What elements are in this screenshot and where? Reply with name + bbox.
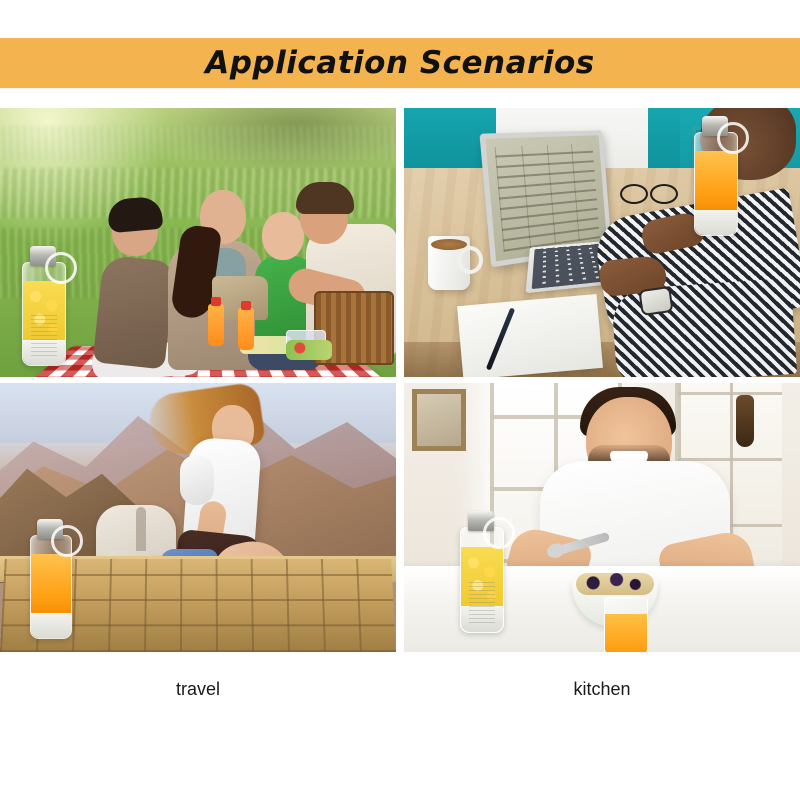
product-blender-bottle [694,116,736,234]
page-banner: Application Scenarios [0,38,800,88]
eyeglasses [620,184,678,202]
woman-sleeve [180,455,214,505]
scenario-card-kitchen[interactable]: kitchen [404,383,800,653]
scenario-photo-picnic [0,108,396,377]
blender-contents-orange-juice [695,151,737,212]
product-blender-bottle [30,519,70,637]
wall-picture-frame [412,389,466,451]
cereal-with-berries [576,573,654,595]
grass-texture [0,126,396,160]
scenario-card-travel[interactable]: travel [0,383,396,653]
blender-contents-orange-juice [31,554,71,615]
caption-kitchen: kitchen [404,652,800,727]
blender-handle-ring [51,525,83,557]
blender-label [469,581,496,623]
screen-content-rows [495,143,600,252]
coffee-surface [431,239,467,250]
scenario-grid: for a picnic [0,108,800,768]
scenario-photo-travel [0,383,396,652]
page-title: Application Scenarios [205,45,594,81]
blender-base [695,210,737,235]
blender-base [31,613,71,638]
notebook [457,294,603,377]
wristwatch [638,286,673,316]
juice-bottle [238,308,254,350]
juice-glass [604,597,648,652]
scenario-photo-kitchen [404,383,800,652]
scenario-card-office[interactable]: office [404,108,800,378]
girl-head [262,212,304,260]
blender-handle-ring [483,517,515,549]
picnic-food-salad [286,340,332,360]
product-blender-bottle [22,246,64,364]
father-hair [296,182,354,214]
blender-label [31,315,58,356]
scenario-card-picnic[interactable]: for a picnic [0,108,396,378]
caption-travel: travel [0,652,396,727]
boy-body [93,255,176,370]
product-blender-bottle [460,511,502,631]
scenario-photo-office [404,108,800,377]
juice-bottle [208,304,224,346]
blender-handle-ring [717,122,749,154]
decor-vase [736,395,754,447]
orange-juice [605,614,647,652]
blender-handle-ring [45,252,77,284]
